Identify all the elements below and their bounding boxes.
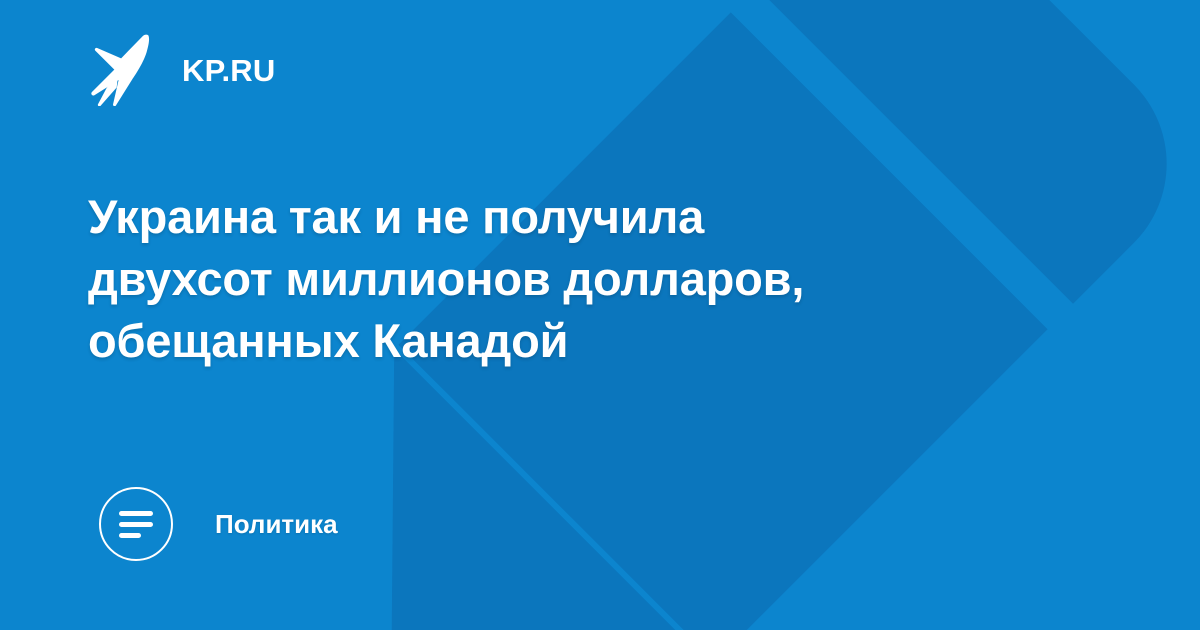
headline-line-3: обещанных Канадой	[88, 310, 918, 372]
share-card: KP.RU Украина так и не получила двухсот …	[0, 0, 1200, 630]
headline-line-2: двухсот миллионов долларов,	[88, 248, 918, 310]
headline-line-1: Украина так и не получила	[88, 186, 918, 248]
menu-line-3	[119, 533, 141, 538]
category-label: Политика	[215, 511, 338, 537]
headline: Украина так и не получила двухсот миллио…	[88, 186, 918, 372]
hamburger-menu-icon	[119, 511, 153, 538]
category-badge[interactable]: Политика	[99, 484, 338, 564]
menu-line-1	[119, 511, 153, 516]
brand-wordmark: KP.RU	[182, 55, 275, 86]
brand-header: KP.RU	[88, 34, 275, 106]
swallow-bird-icon	[88, 34, 150, 106]
menu-line-2	[119, 522, 153, 527]
category-icon-circle[interactable]	[99, 487, 173, 561]
